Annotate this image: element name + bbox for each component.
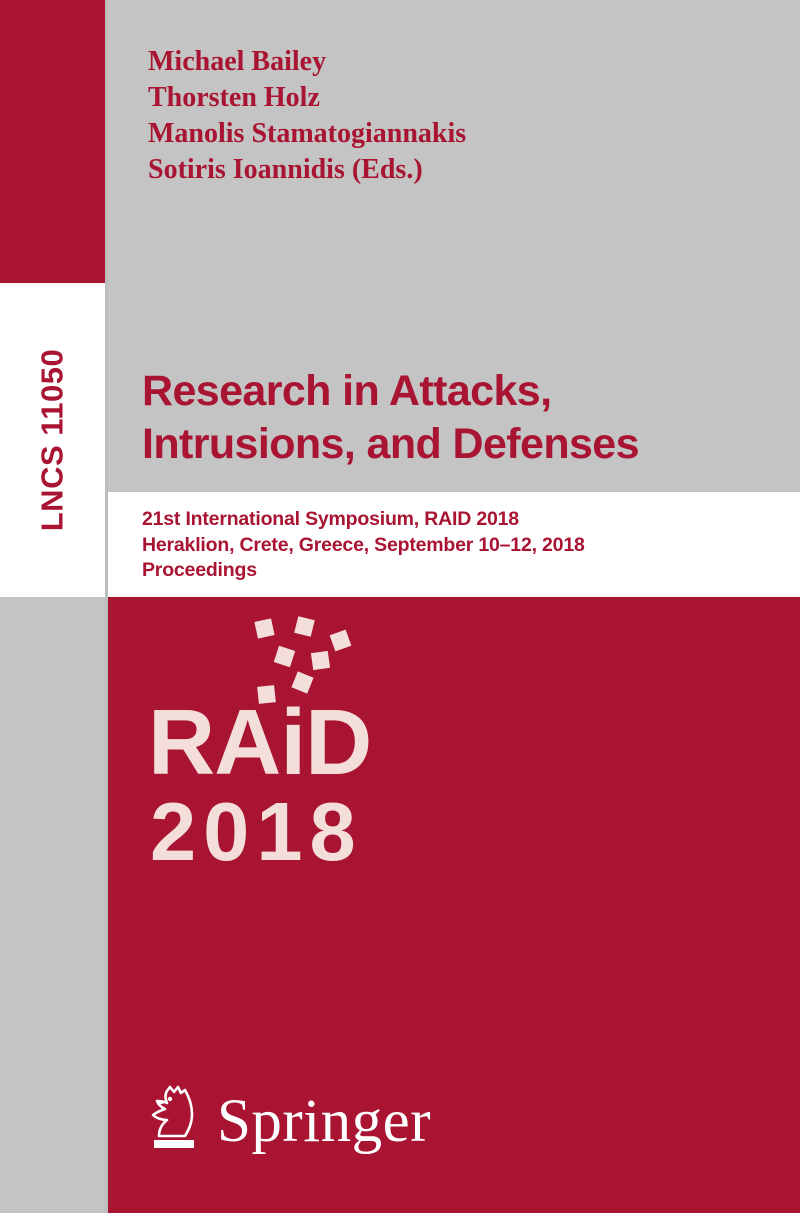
publisher-name: Springer <box>217 1091 431 1153</box>
title-line: Intrusions, and Defenses <box>142 418 782 471</box>
raid-conference-logo: RAiD 2018 <box>148 618 568 888</box>
book-title: Research in Attacks, Intrusions, and Def… <box>142 365 782 471</box>
editor-name: Sotiris Ioannidis (Eds.) <box>148 152 768 188</box>
editor-list: Michael Bailey Thorsten Holz Manolis Sta… <box>148 44 768 188</box>
editor-name: Manolis Stamatogiannakis <box>148 116 768 152</box>
series-label-text: LNCS 11050 <box>35 349 71 532</box>
springer-knight-icon <box>143 1081 205 1155</box>
editor-name: Michael Bailey <box>148 44 768 80</box>
title-line: Research in Attacks, <box>142 365 782 418</box>
editor-name: Thorsten Holz <box>148 80 768 116</box>
subtitle-line: Heraklion, Crete, Greece, September 10–1… <box>142 533 782 559</box>
left-band-red-top <box>0 0 105 283</box>
subtitle-line: Proceedings <box>142 558 782 584</box>
left-band-gray-bottom <box>0 597 105 1213</box>
raid-logo-text: RAiD <box>148 696 371 789</box>
subtitle-line: 21st International Symposium, RAID 2018 <box>142 507 782 533</box>
publisher-logo: Springer <box>143 1073 431 1155</box>
series-spine-label: LNCS 11050 <box>0 283 105 597</box>
book-subtitle: 21st International Symposium, RAID 2018 … <box>142 507 782 584</box>
raid-logo-year: 2018 <box>150 790 363 873</box>
book-cover: LNCS 11050 Michael Bailey Thorsten Holz … <box>0 0 800 1213</box>
